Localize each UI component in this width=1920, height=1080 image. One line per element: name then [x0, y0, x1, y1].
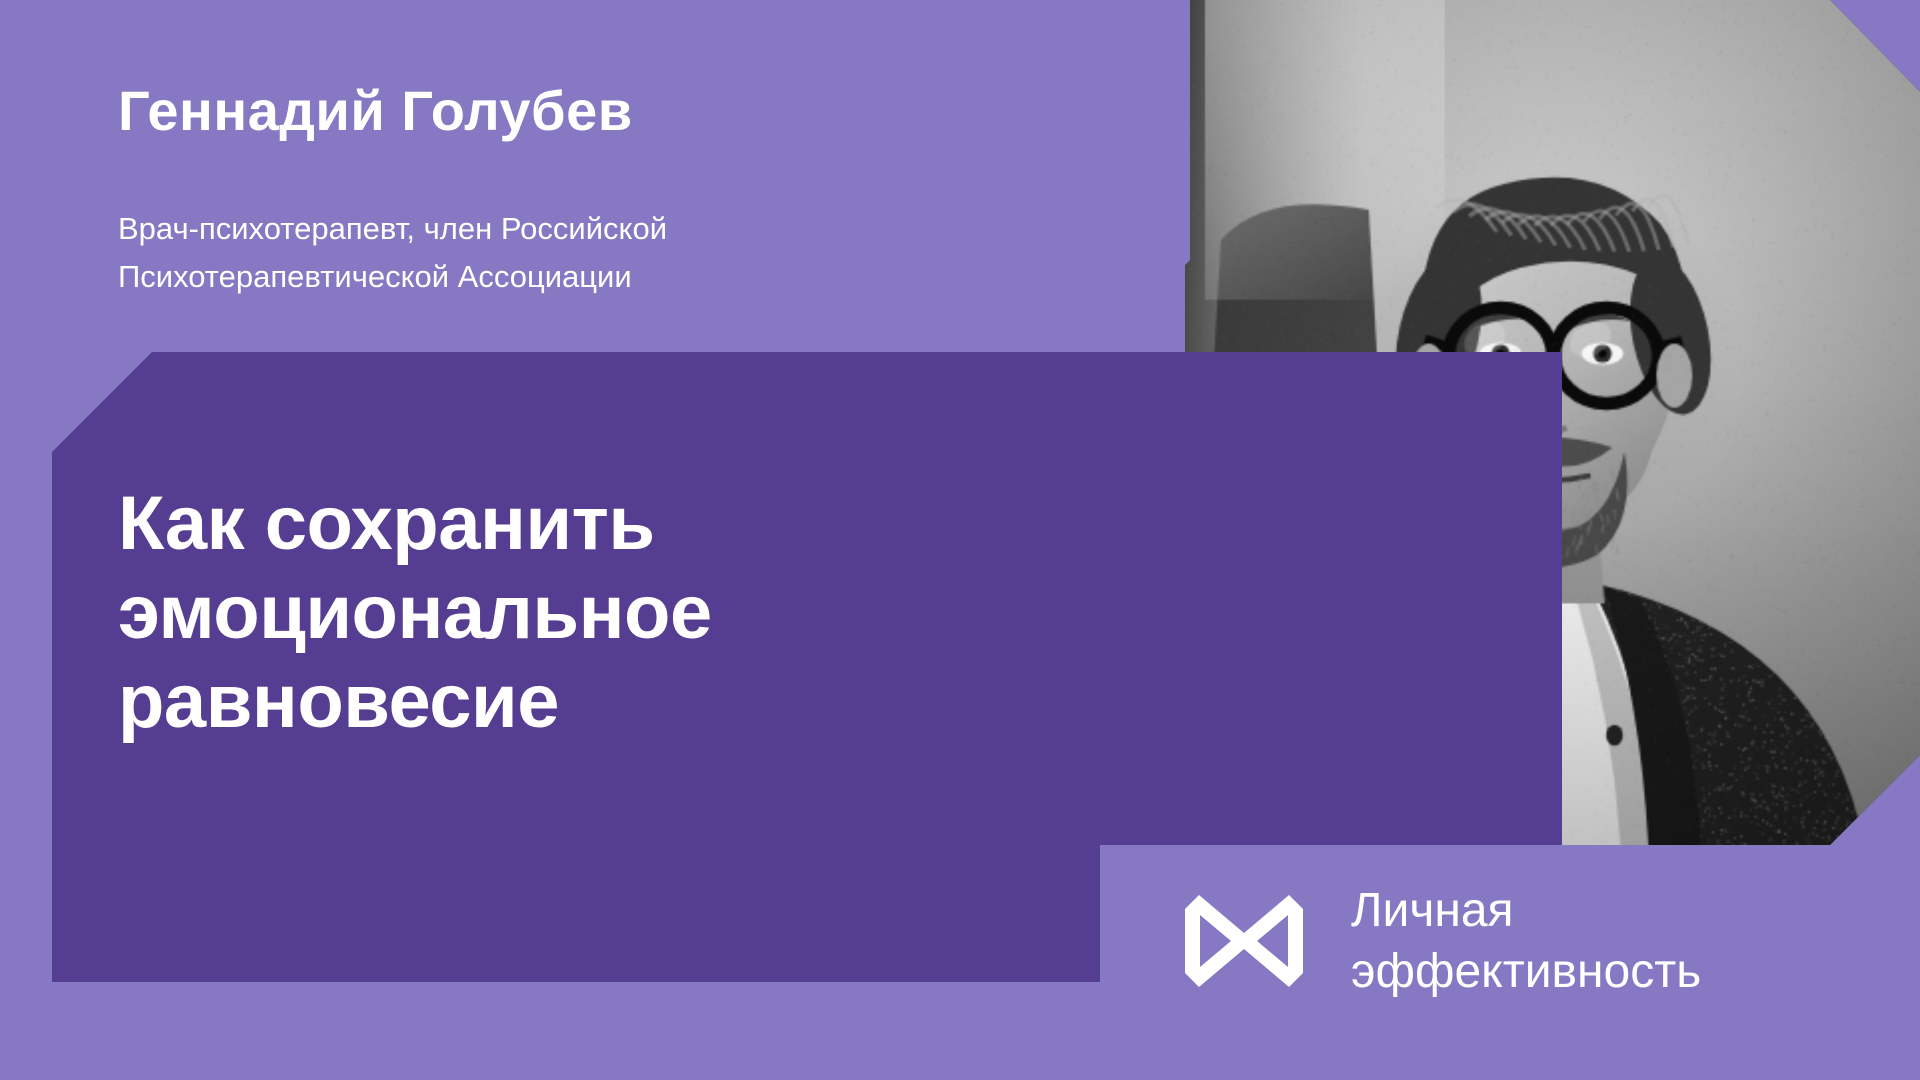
- headline-line-1: Как сохранить: [118, 480, 712, 569]
- promo-slide: Геннадий Голубев Врач-психотерапевт, чле…: [0, 0, 1920, 1080]
- headline-line-3: равновесие: [118, 658, 712, 747]
- brand-lockup: Личная эффективность: [1185, 880, 1701, 1003]
- speaker-role: Врач-психотерапевт, член Российской Псих…: [118, 205, 958, 301]
- speaker-name: Геннадий Голубев: [118, 80, 633, 143]
- brand-name: Личная эффективность: [1351, 880, 1701, 1003]
- brand-name-line-1: Личная: [1351, 880, 1701, 941]
- page-title: Как сохранить эмоциональное равновесие: [118, 480, 712, 747]
- headline-line-2: эмоциональное: [118, 569, 712, 658]
- bowtie-logo-icon: [1185, 895, 1303, 987]
- speaker-role-line-1: Врач-психотерапевт, член Российской: [118, 205, 958, 253]
- brand-name-line-2: эффективность: [1351, 941, 1701, 1002]
- speaker-role-line-2: Психотерапевтической Ассоциации: [118, 253, 958, 301]
